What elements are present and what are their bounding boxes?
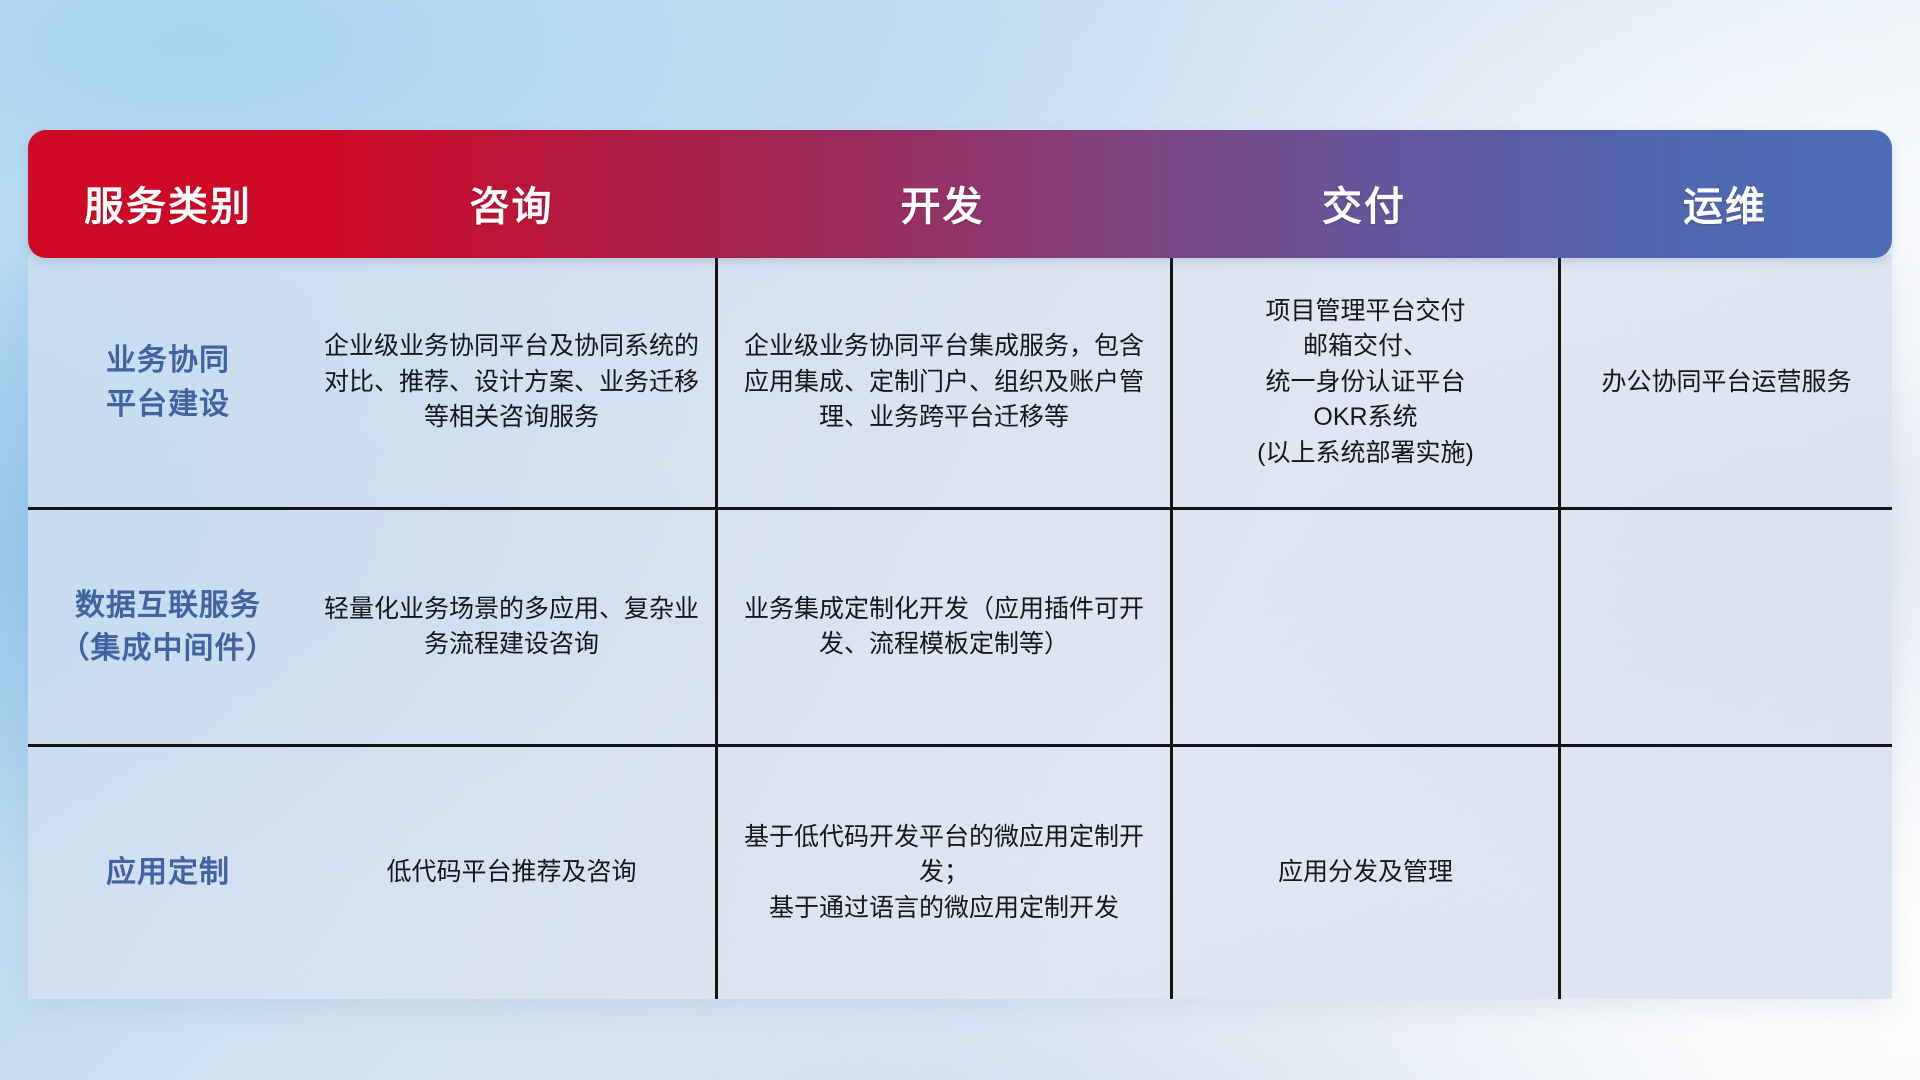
column-header-category: 服务类别	[28, 130, 308, 258]
cell-delivery: 项目管理平台交付 邮箱交付、 统一身份认证平台 OKR系统 (以上系统部署实施)	[1170, 258, 1558, 507]
cell-delivery	[1170, 510, 1558, 744]
column-header-development: 开发	[715, 130, 1170, 258]
cell-development: 基于低代码开发平台的微应用定制开发； 基于通过语言的微应用定制开发	[715, 747, 1170, 999]
cell-consulting: 企业级业务协同平台及协同系统的对比、推荐、设计方案、业务迁移等相关咨询服务	[308, 258, 715, 507]
cell-delivery: 应用分发及管理	[1170, 747, 1558, 999]
cell-operations	[1558, 510, 1892, 744]
table-header-row: 服务类别 咨询 开发 交付 运维	[28, 130, 1892, 258]
column-header-operations: 运维	[1558, 130, 1892, 258]
cell-operations	[1558, 747, 1892, 999]
cell-category: 数据互联服务 （集成中间件）	[28, 510, 308, 744]
table-row: 数据互联服务 （集成中间件） 轻量化业务场景的多应用、复杂业务流程建设咨询 业务…	[28, 507, 1892, 744]
table-row: 应用定制 低代码平台推荐及咨询 基于低代码开发平台的微应用定制开发； 基于通过语…	[28, 744, 1892, 999]
cell-operations: 办公协同平台运营服务	[1558, 258, 1892, 507]
cell-development: 业务集成定制化开发（应用插件可开发、流程模板定制等）	[715, 510, 1170, 744]
table-body: 业务协同 平台建设 企业级业务协同平台及协同系统的对比、推荐、设计方案、业务迁移…	[28, 254, 1892, 999]
cell-development: 企业级业务协同平台集成服务，包含应用集成、定制门户、组织及账户管理、业务跨平台迁…	[715, 258, 1170, 507]
cell-category: 应用定制	[28, 747, 308, 999]
cell-consulting: 轻量化业务场景的多应用、复杂业务流程建设咨询	[308, 510, 715, 744]
cell-consulting: 低代码平台推荐及咨询	[308, 747, 715, 999]
table-row: 业务协同 平台建设 企业级业务协同平台及协同系统的对比、推荐、设计方案、业务迁移…	[28, 258, 1892, 507]
service-matrix-table: 服务类别 咨询 开发 交付 运维 业务协同 平台建设 企业级业务协同平台及协同系…	[28, 130, 1892, 999]
cell-category: 业务协同 平台建设	[28, 258, 308, 507]
column-header-delivery: 交付	[1170, 130, 1558, 258]
column-header-consulting: 咨询	[308, 130, 715, 258]
